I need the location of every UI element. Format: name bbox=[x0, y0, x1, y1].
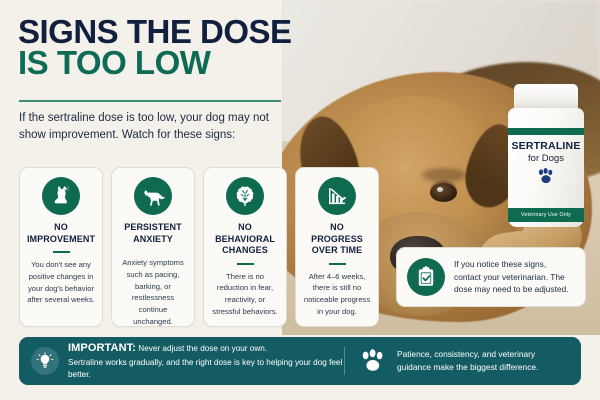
lightbulb-icon bbox=[31, 347, 59, 375]
signs-card-list: NO IMPROVEMENT You don't see any positiv… bbox=[19, 167, 379, 327]
bottle-band: Veterinary Use Only bbox=[508, 208, 584, 222]
bottle-cap bbox=[514, 84, 578, 110]
bottle-subtitle: for Dogs bbox=[508, 153, 584, 164]
dog-brow-right bbox=[422, 168, 466, 182]
standing-dog-icon bbox=[134, 177, 172, 215]
sign-card-text: After 4–6 weeks, there is still no notic… bbox=[303, 271, 371, 318]
clipboard-check-icon bbox=[407, 258, 445, 296]
sign-card-text: You don't see any positive changes in yo… bbox=[27, 259, 95, 306]
veterinarian-callout-text: If you notice these signs, contact your … bbox=[454, 258, 575, 296]
page-title: SIGNS THE DOSE IS TOO LOW bbox=[18, 16, 318, 79]
footer-important-line2: Sertraline works gradually, and the righ… bbox=[68, 357, 344, 382]
footer-closing-text: Patience, consistency, and veterinary gu… bbox=[397, 348, 567, 373]
brain-icon bbox=[226, 177, 264, 215]
sign-card-title: NO BEHAVIORAL CHANGES bbox=[211, 222, 279, 257]
sign-card-rule bbox=[237, 263, 254, 265]
declining-bar-chart-icon bbox=[318, 177, 356, 215]
page-subtitle: If the sertraline dose is too low, your … bbox=[19, 110, 287, 143]
sign-card: NO BEHAVIORAL CHANGES There is no reduct… bbox=[203, 167, 287, 327]
veterinarian-callout: If you notice these signs, contact your … bbox=[396, 247, 586, 307]
pill-bottle: SERTRALINE for Dogs Veterinary Use Only bbox=[508, 84, 584, 227]
footer-closing-block: Patience, consistency, and veterinary gu… bbox=[345, 348, 581, 373]
footer-important-label: IMPORTANT: bbox=[68, 342, 136, 354]
bottle-brand: SERTRALINE bbox=[508, 140, 584, 152]
footer-bar: IMPORTANT: Never adjust the dose on your… bbox=[19, 337, 581, 385]
bottle-band-label: Veterinary Use Only bbox=[521, 212, 571, 218]
paw-print-icon bbox=[508, 168, 584, 184]
sign-card-title: NO IMPROVEMENT bbox=[27, 222, 95, 245]
bottle-stripe bbox=[508, 128, 584, 135]
sign-card-rule bbox=[329, 263, 346, 265]
page-title-line2: IS TOO LOW bbox=[18, 44, 210, 81]
sign-card: PERSISTENT ANXIETY Anxiety symptoms such… bbox=[111, 167, 195, 327]
sign-card-title: NO PROGRESS OVER TIME bbox=[303, 222, 371, 257]
title-divider bbox=[19, 100, 281, 102]
sign-card-rule bbox=[53, 251, 70, 253]
sign-card-title: PERSISTENT ANXIETY bbox=[119, 222, 187, 245]
paw-print-icon bbox=[359, 349, 387, 373]
sign-card: NO IMPROVEMENT You don't see any positiv… bbox=[19, 167, 103, 327]
sign-card-text: There is no reduction in fear, reactivit… bbox=[211, 271, 279, 318]
sign-card: NO PROGRESS OVER TIME After 4–6 weeks, t… bbox=[295, 167, 379, 327]
sitting-dog-icon bbox=[42, 177, 80, 215]
sign-card-text: Anxiety symptoms such as pacing, barking… bbox=[119, 257, 187, 328]
dog-eye-right bbox=[430, 183, 457, 202]
footer-important-block: IMPORTANT: Never adjust the dose on your… bbox=[19, 340, 344, 381]
footer-important-text: Never adjust the dose on your own. bbox=[138, 344, 267, 353]
